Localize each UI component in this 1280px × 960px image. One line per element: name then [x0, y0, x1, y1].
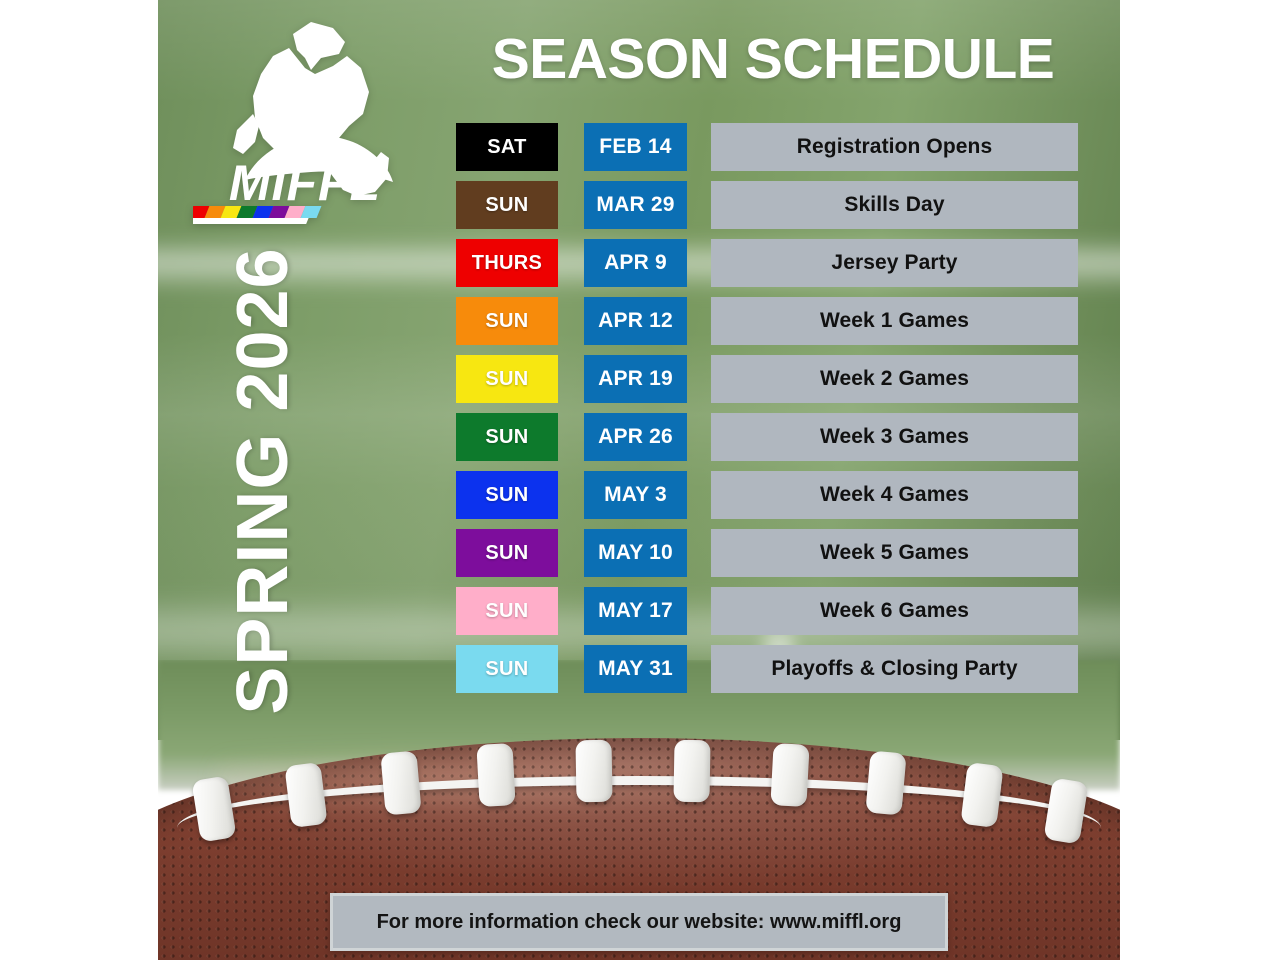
schedule-row: SATFEB 14Registration Opens — [456, 123, 1078, 171]
schedule-row: SUNAPR 19Week 2 Games — [456, 355, 1078, 403]
schedule-row: SUNMAY 10Week 5 Games — [456, 529, 1078, 577]
logo-wordmark: MIFFL — [229, 155, 381, 211]
season-label: SPRING 2026 — [222, 246, 304, 716]
date-chip: MAY 17 — [584, 587, 687, 635]
date-chip: APR 9 — [584, 239, 687, 287]
football-lace — [284, 762, 327, 828]
event-bar: Registration Opens — [711, 123, 1078, 171]
schedule-row: THURSAPR 9Jersey Party — [456, 239, 1078, 287]
event-bar: Week 5 Games — [711, 529, 1078, 577]
football-lace — [770, 743, 809, 807]
event-bar: Week 6 Games — [711, 587, 1078, 635]
page-title: SEASON SCHEDULE — [458, 26, 1088, 92]
season-schedule-poster: MIFFL SEASON SCHEDULE SPRING 2026 SATFEB… — [158, 0, 1120, 960]
football-lace — [960, 762, 1003, 828]
day-badge: SUN — [456, 529, 558, 577]
date-chip: MAY 10 — [584, 529, 687, 577]
day-badge: THURS — [456, 239, 558, 287]
day-badge: SUN — [456, 471, 558, 519]
football-lace — [476, 743, 515, 807]
schedule-list: SATFEB 14Registration OpensSUNMAR 29Skil… — [456, 123, 1078, 703]
football-lace — [865, 751, 906, 816]
event-bar: Week 1 Games — [711, 297, 1078, 345]
schedule-row: SUNMAY 17Week 6 Games — [456, 587, 1078, 635]
date-chip: MAY 3 — [584, 471, 687, 519]
event-bar: Playoffs & Closing Party — [711, 645, 1078, 693]
pride-stripe — [193, 206, 321, 224]
day-badge: SAT — [456, 123, 558, 171]
schedule-row: SUNMAY 3Week 4 Games — [456, 471, 1078, 519]
schedule-row: SUNAPR 26Week 3 Games — [456, 413, 1078, 461]
date-chip: APR 19 — [584, 355, 687, 403]
day-badge: SUN — [456, 181, 558, 229]
schedule-row: SUNAPR 12Week 1 Games — [456, 297, 1078, 345]
schedule-row: SUNMAY 31Playoffs & Closing Party — [456, 645, 1078, 693]
day-badge: SUN — [456, 587, 558, 635]
event-bar: Week 3 Games — [711, 413, 1078, 461]
day-badge: SUN — [456, 413, 558, 461]
website-footer-bar[interactable]: For more information check our website: … — [330, 893, 948, 951]
date-chip: APR 26 — [584, 413, 687, 461]
day-badge: SUN — [456, 645, 558, 693]
football-lace — [575, 740, 612, 803]
event-bar: Week 2 Games — [711, 355, 1078, 403]
football-lace — [673, 740, 710, 803]
date-chip: APR 12 — [584, 297, 687, 345]
schedule-row: SUNMAR 29Skills Day — [456, 181, 1078, 229]
event-bar: Skills Day — [711, 181, 1078, 229]
date-chip: MAR 29 — [584, 181, 687, 229]
day-badge: SUN — [456, 297, 558, 345]
event-bar: Week 4 Games — [711, 471, 1078, 519]
event-bar: Jersey Party — [711, 239, 1078, 287]
date-chip: MAY 31 — [584, 645, 687, 693]
football-lace — [380, 751, 421, 816]
day-badge: SUN — [456, 355, 558, 403]
miffl-logo: MIFFL — [193, 14, 423, 224]
date-chip: FEB 14 — [584, 123, 687, 171]
